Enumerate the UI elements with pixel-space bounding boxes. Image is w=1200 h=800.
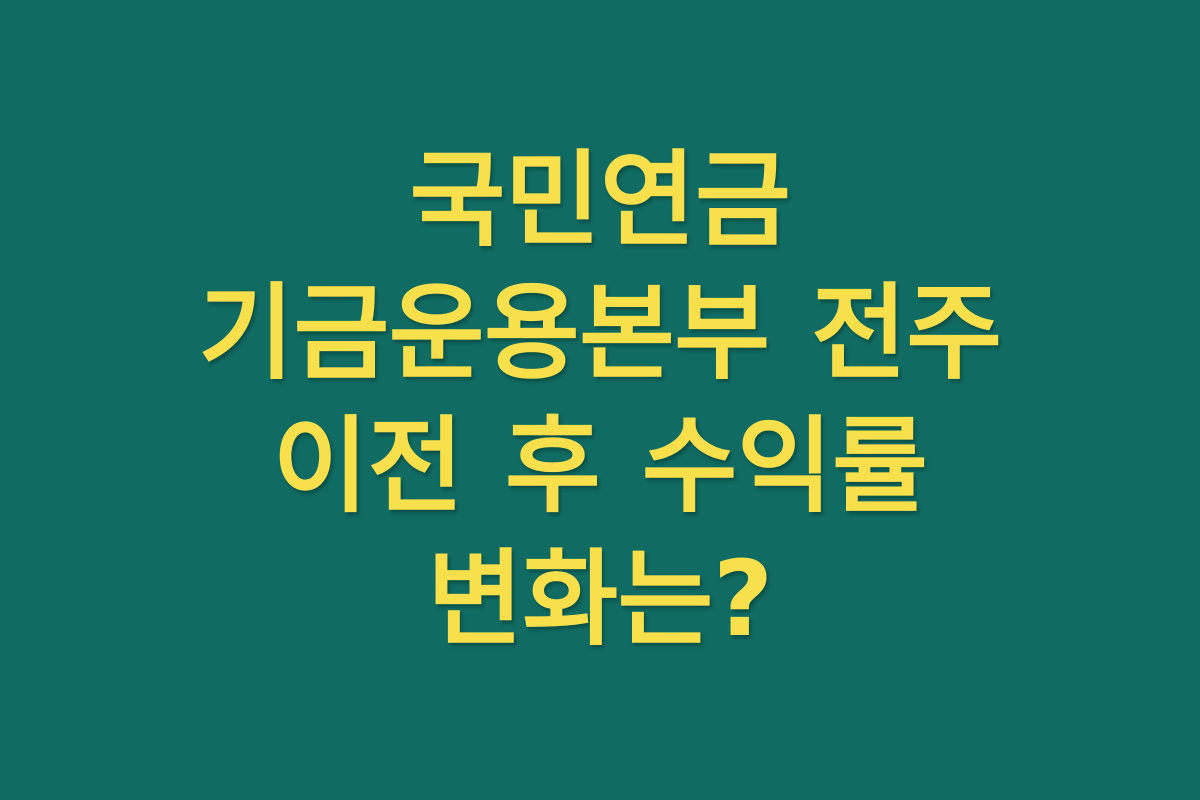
headline-container: 국민연금 기금운용본부 전주 이전 후 수익률 변화는? — [100, 134, 1100, 666]
page-title: 국민연금 기금운용본부 전주 이전 후 수익률 변화는? — [110, 134, 1090, 666]
headline-card: 국민연금 기금운용본부 전주 이전 후 수익률 변화는? — [0, 0, 1200, 800]
